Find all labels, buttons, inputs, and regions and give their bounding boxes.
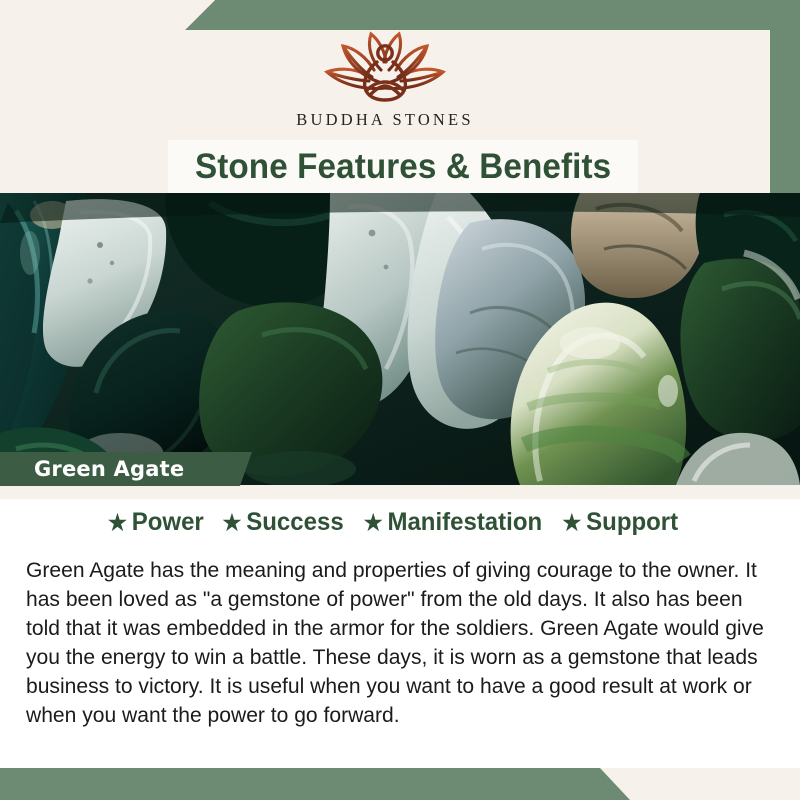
benefit-item: ★ Success xyxy=(222,508,343,537)
page-title: Stone Features & Benefits xyxy=(195,147,611,187)
star-icon: ★ xyxy=(363,512,382,534)
benefits-list: ★ Power ★ Success ★ Manifestation ★ Supp… xyxy=(0,508,786,537)
green-agate-stones-illustration xyxy=(0,193,800,485)
content-top-divider xyxy=(0,485,800,499)
benefit-label: Power xyxy=(132,508,204,537)
benefit-item: ★ Manifestation xyxy=(363,508,541,537)
benefit-label: Success xyxy=(246,508,343,537)
stone-features-poster: BUDDHA STONES Stone Features & Benefits xyxy=(0,0,800,800)
green-agate-photo xyxy=(0,193,800,485)
star-icon: ★ xyxy=(222,512,241,534)
star-icon: ★ xyxy=(108,512,127,534)
benefit-label: Manifestation xyxy=(387,508,542,537)
lotus-meditation-icon xyxy=(309,26,461,106)
star-icon: ★ xyxy=(562,512,581,534)
brand-name: BUDDHA STONES xyxy=(296,110,473,130)
stone-name-badge: Green Agate xyxy=(0,452,252,486)
stone-name-label: Green Agate xyxy=(34,457,184,481)
benefit-label: Support xyxy=(586,508,678,537)
brand-logo: BUDDHA STONES xyxy=(0,26,770,130)
benefit-item: ★ Power xyxy=(108,508,204,537)
benefit-item: ★ Support xyxy=(562,508,678,537)
stone-description: Green Agate has the meaning and properti… xyxy=(26,556,767,730)
page-title-panel: Stone Features & Benefits xyxy=(168,140,638,193)
